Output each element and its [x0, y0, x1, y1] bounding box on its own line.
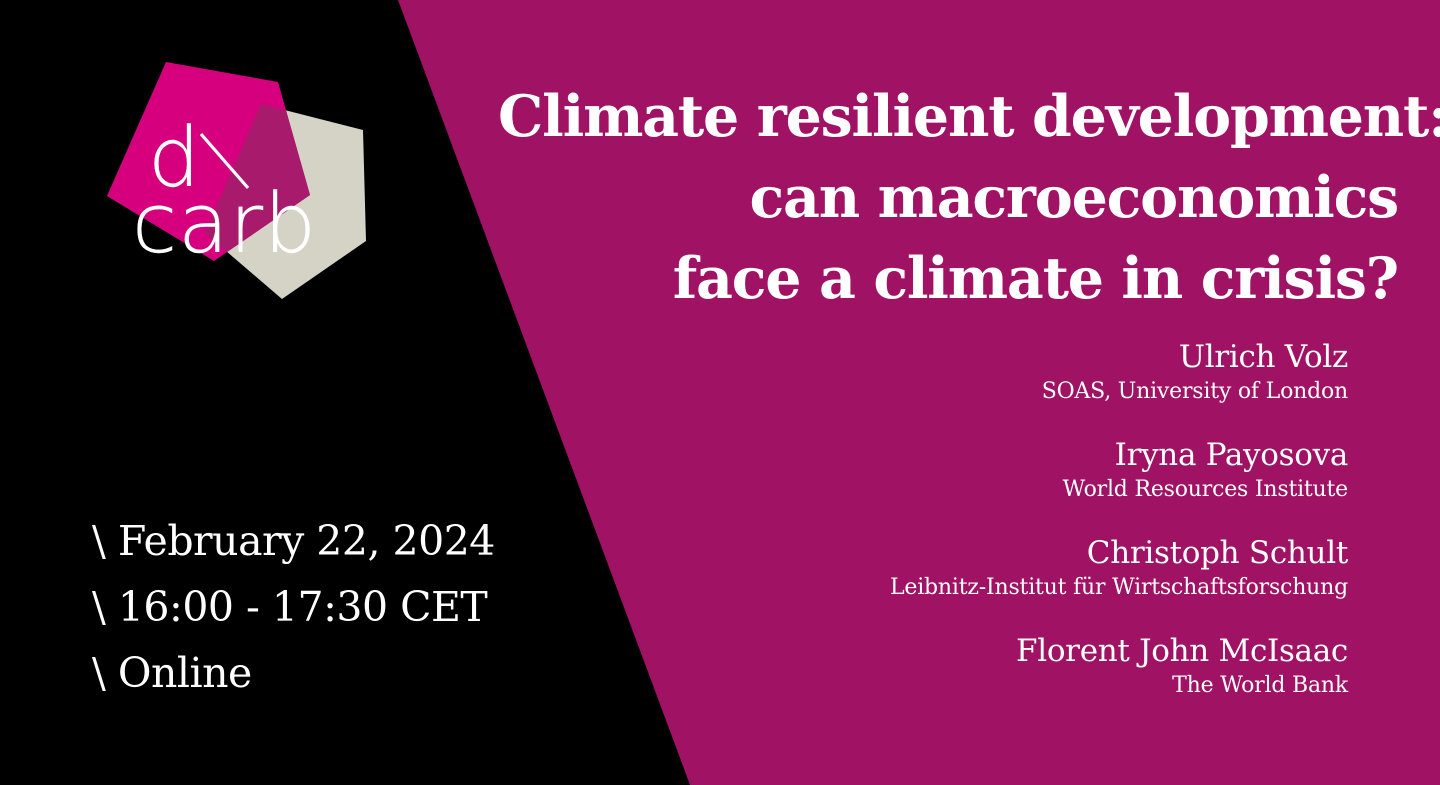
- dcarb-logo: d carb: [86, 56, 376, 306]
- event-location: \ Online: [92, 640, 495, 706]
- speaker-affiliation: Leibnitz-Institut für Wirtschaftsforschu…: [588, 572, 1348, 603]
- event-details: \ February 22, 2024 \ 16:00 - 17:30 CET …: [92, 508, 495, 706]
- event-promo-poster: d carb Climate resilient development: ca…: [0, 0, 1440, 785]
- speaker-item: Ulrich Volz SOAS, University of London: [588, 338, 1348, 407]
- speaker-affiliation: SOAS, University of London: [588, 376, 1348, 407]
- speaker-name: Florent John McIsaac: [588, 632, 1348, 670]
- event-date: \ February 22, 2024: [92, 508, 495, 574]
- event-title: Climate resilient development: can macro…: [498, 76, 1398, 319]
- speaker-item: Florent John McIsaac The World Bank: [588, 632, 1348, 701]
- speaker-list: Ulrich Volz SOAS, University of London I…: [588, 338, 1348, 701]
- event-time: \ 16:00 - 17:30 CET: [92, 574, 495, 640]
- speaker-item: Iryna Payosova World Resources Institute: [588, 436, 1348, 505]
- title-line-1: Climate resilient development:: [498, 76, 1398, 157]
- speaker-name: Ulrich Volz: [588, 338, 1348, 376]
- speaker-item: Christoph Schult Leibnitz-Institut für W…: [588, 534, 1348, 603]
- speaker-affiliation: World Resources Institute: [588, 474, 1348, 505]
- speaker-name: Christoph Schult: [588, 534, 1348, 572]
- title-line-3: face a climate in crisis?: [498, 238, 1398, 319]
- speaker-affiliation: The World Bank: [588, 670, 1348, 701]
- speaker-name: Iryna Payosova: [588, 436, 1348, 474]
- title-line-2: can macroeconomics: [498, 157, 1398, 238]
- logo-text-carb: carb: [132, 177, 317, 272]
